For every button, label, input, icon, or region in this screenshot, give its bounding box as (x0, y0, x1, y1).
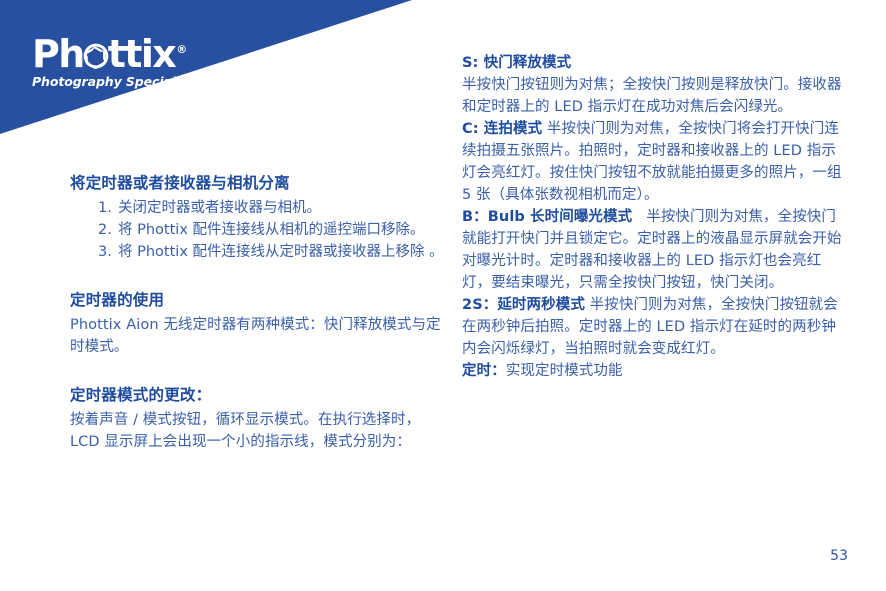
timer-usage-body: Phottix Aion 无线定时器有两种模式：快门释放模式与定时模式。 (70, 314, 448, 358)
section-heading-timer-usage: 定时器的使用 (70, 289, 448, 311)
logo-text-after-aperture: ttix (108, 34, 175, 74)
aperture-icon (83, 43, 109, 69)
section-heading-disconnect: 将定时器或者接收器与相机分离 (70, 172, 448, 194)
mode-label: 定时： (462, 363, 506, 379)
list-item: 3. 将 Phottix 配件连接线从定时器或接收器上移除 。 (98, 241, 448, 263)
registered-trademark-icon: ® (176, 43, 187, 56)
phottix-logo: Ph ttix® Photography Specialists (32, 30, 212, 89)
mode-label: 2S：延时两秒模式 (462, 297, 585, 313)
mode-label: B：Bulb 长时间曝光模式 (462, 209, 632, 225)
mode-label: C: 连拍模式 (462, 121, 542, 137)
disconnect-steps-list: 1. 关闭定时器或者接收器与相机。 2. 将 Phottix 配件连接线从相机的… (70, 197, 448, 263)
left-text-column: 将定时器或者接收器与相机分离 1. 关闭定时器或者接收器与相机。 2. 将 Ph… (70, 172, 448, 453)
logo-wordmark: Ph ttix® (32, 30, 212, 74)
list-item: 2. 将 Phottix 配件连接线从相机的遥控端口移除。 (98, 219, 448, 241)
right-text-column: S: 快门释放模式 半按快门按钮则为对焦；全按快门按则是释放快门。接收器和定时器… (462, 52, 844, 382)
mode-description: 半按快门按钮则为对焦；全按快门按则是释放快门。接收器和定时器上的 LED 指示灯… (462, 77, 842, 115)
step-number: 1. (98, 197, 116, 219)
section-heading-change-mode: 定时器模式的更改： (70, 384, 448, 406)
logo-tagline: Photography Specialists (32, 75, 212, 89)
mode-entry-shutter-release: S: 快门释放模式 半按快门按钮则为对焦；全按快门按则是释放快门。接收器和定时器… (462, 52, 844, 118)
mode-entry-continuous: C: 连拍模式 半按快门则为对焦，全按快门将会打开快门连续拍摄五张照片。拍照时，… (462, 118, 844, 206)
step-number: 2. (98, 219, 116, 241)
section-timer-usage: 定时器的使用 Phottix Aion 无线定时器有两种模式：快门释放模式与定时… (70, 289, 448, 358)
mode-entry-two-second-delay: 2S：延时两秒模式 半按快门则为对焦，全按快门按钮就会在两秒钟后拍照。定时器上的… (462, 294, 844, 360)
step-text: 将 Phottix 配件连接线从相机的遥控端口移除。 (118, 222, 425, 238)
step-text: 将 Phottix 配件连接线从定时器或接收器上移除 。 (118, 244, 444, 260)
mode-description: 实现定时模式功能 (506, 363, 623, 379)
step-text: 关闭定时器或者接收器与相机。 (118, 200, 321, 216)
page-number: 53 (830, 548, 848, 564)
change-mode-body: 按着声音 / 模式按钮，循环显示模式。在执行选择时，LCD 显示屏上会出现一个小… (70, 409, 448, 453)
mode-entry-bulb: B：Bulb 长时间曝光模式半按快门则为对焦，全按快门就能打开快门并且锁定它。定… (462, 206, 844, 294)
step-number: 3. (98, 241, 116, 263)
list-item: 1. 关闭定时器或者接收器与相机。 (98, 197, 448, 219)
manual-page: Ph ttix® Photography Specialists 将定时器或者接… (0, 0, 886, 591)
mode-label: S: 快门释放模式 (462, 55, 571, 71)
section-change-mode: 定时器模式的更改： 按着声音 / 模式按钮，循环显示模式。在执行选择时，LCD … (70, 384, 448, 453)
logo-text-before-aperture: Ph (32, 34, 84, 74)
section-disconnect: 将定时器或者接收器与相机分离 1. 关闭定时器或者接收器与相机。 2. 将 Ph… (70, 172, 448, 263)
mode-entry-timer: 定时：实现定时模式功能 (462, 360, 844, 382)
